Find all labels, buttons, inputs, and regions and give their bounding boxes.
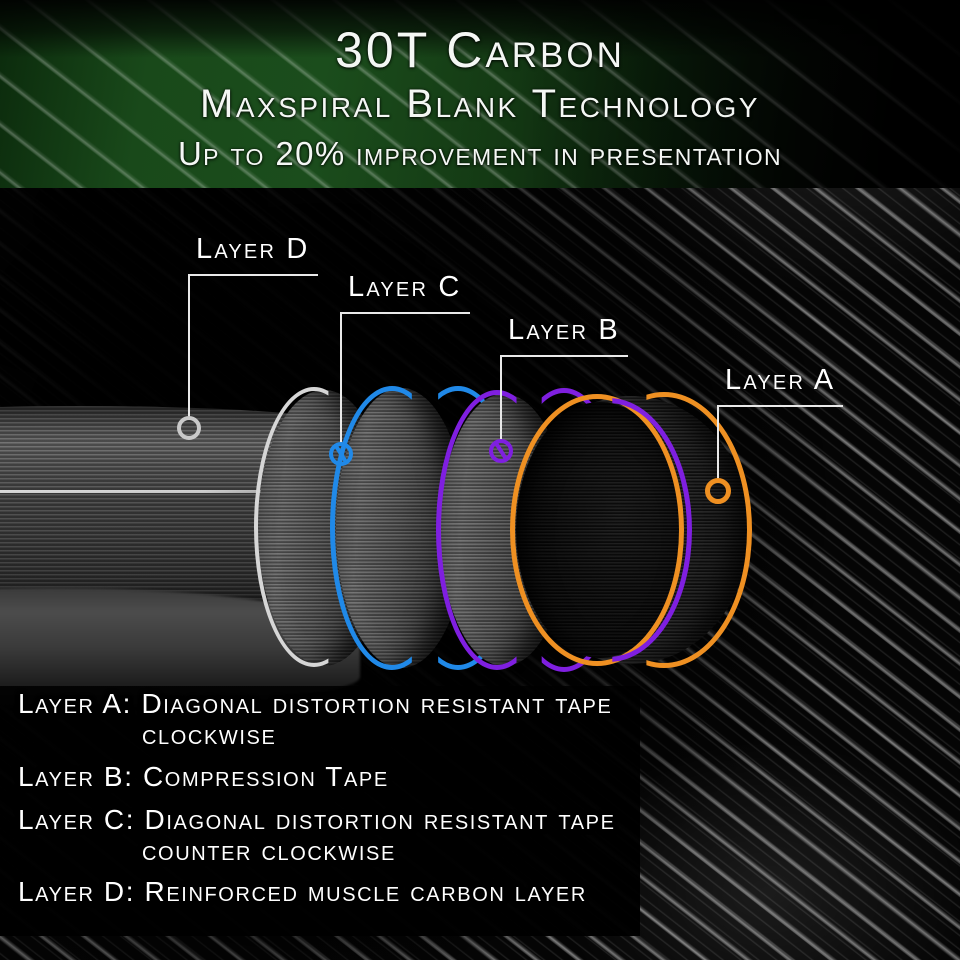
- legend-text-layer-c: Diagonal distortion resistant tape: [145, 804, 616, 835]
- legend-key-layer-d: Layer D:: [18, 876, 135, 907]
- legend-item-layer-b: Layer B: Compression Tape: [18, 761, 389, 792]
- legend-item-layer-c: Layer C: Diagonal distortion resistant t…: [18, 804, 616, 866]
- callout-leader-h-layer-d: [188, 274, 318, 276]
- legend-cont-layer-c: counter clockwise: [18, 835, 616, 866]
- headline-secondary: Maxspiral Blank Technology: [0, 83, 960, 125]
- banner-text-group: 30T Carbon Maxspiral Blank Technology Up…: [0, 0, 960, 188]
- legend-block: Layer A: Diagonal distortion resistant t…: [0, 686, 960, 936]
- callout-label-layer-b: Layer B: [508, 315, 620, 345]
- callout-leader-h-layer-c: [340, 312, 470, 314]
- header-banner: 30T Carbon Maxspiral Blank Technology Up…: [0, 0, 960, 188]
- callout-leader-v-layer-a: [717, 405, 719, 483]
- infographic-stage: 30T Carbon Maxspiral Blank Technology Up…: [0, 0, 960, 960]
- callout-leader-h-layer-b: [500, 355, 628, 357]
- legend-text-layer-b: Compression Tape: [143, 761, 389, 792]
- callout-label-layer-c: Layer C: [348, 272, 462, 302]
- callout-marker-slash-layer-b: [493, 440, 508, 461]
- legend-text-layer-a: Diagonal distortion resistant tape: [141, 688, 612, 719]
- callout-marker-layer-d: [177, 416, 201, 440]
- legend-key-layer-b: Layer B:: [18, 761, 134, 792]
- callout-marker-layer-a: [705, 478, 731, 504]
- legend-item-layer-a: Layer A: Diagonal distortion resistant t…: [18, 688, 612, 750]
- callout-marker-layer-c: [329, 442, 353, 466]
- headline-tertiary: Up to 20% improvement in presentation: [0, 136, 960, 171]
- legend-key-layer-c: Layer C:: [18, 804, 135, 835]
- callout-leader-h-layer-a: [717, 405, 843, 407]
- layer-a-band: [512, 396, 750, 664]
- legend-cont-layer-a: clockwise: [18, 719, 612, 750]
- legend-item-layer-d: Layer D: Reinforced muscle carbon layer: [18, 876, 587, 907]
- legend-key-layer-a: Layer A:: [18, 688, 132, 719]
- callout-label-layer-a: Layer A: [725, 365, 835, 395]
- callout-marker-slash-layer-c: [333, 443, 348, 464]
- callout-leader-v-layer-d: [188, 274, 190, 419]
- layer-a-bore: [516, 402, 684, 658]
- headline-primary: 30T Carbon: [0, 24, 960, 76]
- callout-marker-layer-b: [489, 439, 513, 463]
- callout-leader-v-layer-b: [500, 355, 502, 443]
- callout-label-layer-d: Layer D: [196, 234, 310, 264]
- legend-text-layer-d: Reinforced muscle carbon layer: [145, 876, 587, 907]
- layered-tube-diagram: Layer D Layer C Layer B Layer A: [0, 188, 960, 688]
- callout-leader-v-layer-c: [340, 312, 342, 446]
